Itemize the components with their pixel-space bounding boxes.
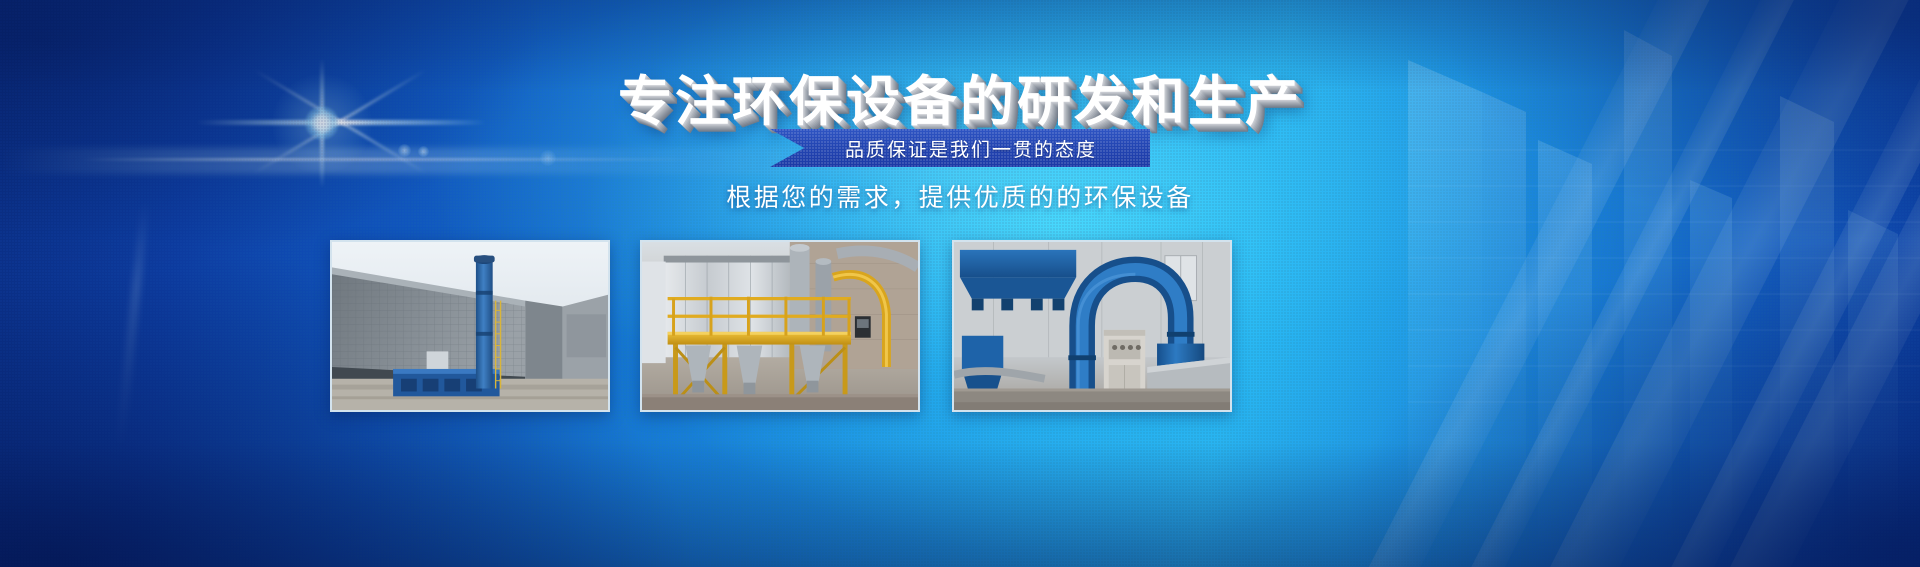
badge-label: 品质保证是我们一贯的态度 [770, 129, 1150, 167]
quality-badge: 品质保证是我们一贯的态度 [770, 129, 1150, 167]
photo-image [332, 242, 608, 410]
photo-blue-cyclone-unit[interactable] [952, 240, 1232, 412]
photo-image [642, 242, 918, 410]
banner-content: 专注环保设备的研发和生产 品质保证是我们一贯的态度 根据您的需求，提供优质的的环… [0, 0, 1920, 567]
photo-image [954, 242, 1230, 410]
banner-headline: 专注环保设备的研发和生产 [0, 57, 1920, 136]
photo-gallery [0, 240, 1920, 415]
photo-factory-exterior-stack[interactable] [330, 240, 610, 412]
promo-banner: 专注环保设备的研发和生产 品质保证是我们一贯的态度 根据您的需求，提供优质的的环… [0, 0, 1920, 567]
photo-dust-collector-platform[interactable] [640, 240, 920, 412]
banner-subline: 根据您的需求，提供优质的的环保设备 [0, 178, 1920, 214]
